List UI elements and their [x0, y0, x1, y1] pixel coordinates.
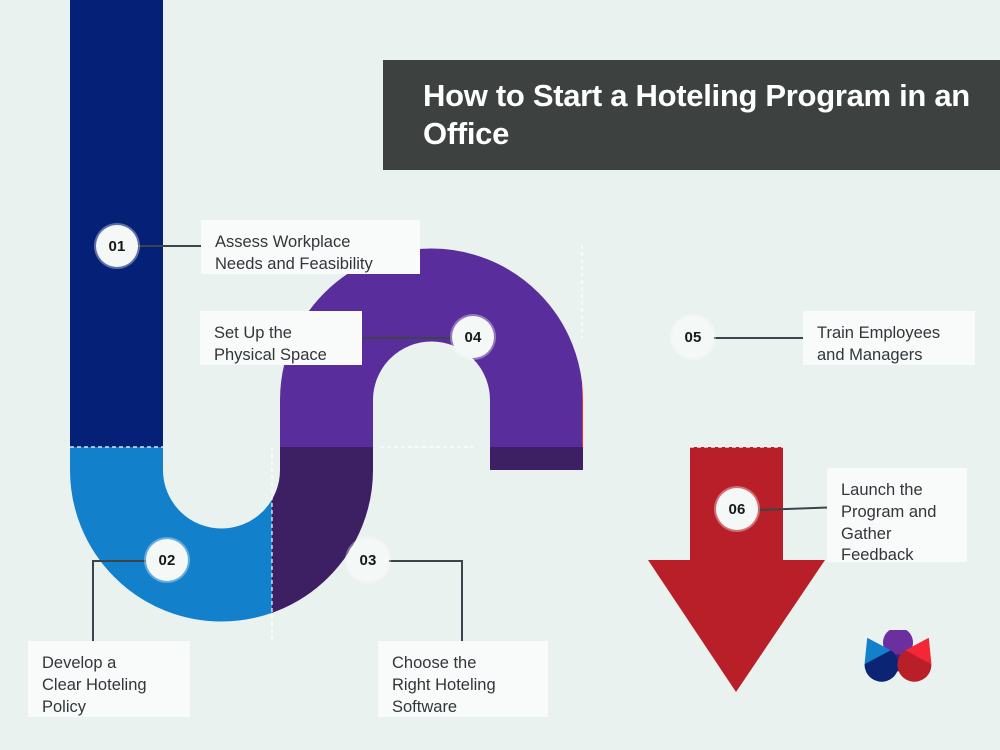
- connector-02-horizontal: [92, 560, 148, 562]
- step-badge-03[interactable]: 03: [347, 539, 389, 581]
- step-card-01[interactable]: Assess Workplace Needs and Feasibility: [201, 220, 420, 274]
- connector-05: [712, 337, 804, 339]
- step-badge-05[interactable]: 05: [672, 316, 714, 358]
- step-badge-04[interactable]: 04: [452, 316, 494, 358]
- step-card-06[interactable]: Launch the Program and Gather Feedback: [827, 468, 967, 562]
- connector-03-vertical: [461, 560, 463, 642]
- infographic-canvas: How to Start a Hoteling Program in an Of…: [0, 0, 1000, 750]
- step-card-03[interactable]: Choose the Right Hoteling Software: [378, 641, 548, 717]
- connector-01: [136, 245, 202, 247]
- connector-03-horizontal: [386, 560, 462, 562]
- page-title: How to Start a Hoteling Program in an Of…: [383, 77, 1000, 153]
- step-card-05[interactable]: Train Employees and Managers: [803, 311, 975, 365]
- ribbon-segment-06-arrow: [648, 447, 825, 692]
- step-badge-01[interactable]: 01: [96, 225, 138, 267]
- step-badge-02-number: 02: [158, 552, 175, 569]
- step-badge-06[interactable]: 06: [716, 488, 758, 530]
- step-badge-02[interactable]: 02: [146, 539, 188, 581]
- step-badge-04-number: 04: [464, 329, 481, 346]
- step-card-02[interactable]: Develop a Clear Hoteling Policy: [28, 641, 190, 717]
- step-badge-03-number: 03: [359, 552, 376, 569]
- connector-02-vertical: [92, 560, 94, 642]
- step-badge-05-number: 05: [684, 329, 701, 346]
- connector-04: [352, 337, 458, 339]
- step-card-04[interactable]: Set Up the Physical Space: [200, 311, 362, 365]
- title-banner: How to Start a Hoteling Program in an Of…: [383, 60, 1000, 170]
- step-badge-01-number: 01: [108, 238, 125, 255]
- step-badge-06-number: 06: [728, 501, 745, 518]
- three-teardrop-logo: [852, 630, 944, 708]
